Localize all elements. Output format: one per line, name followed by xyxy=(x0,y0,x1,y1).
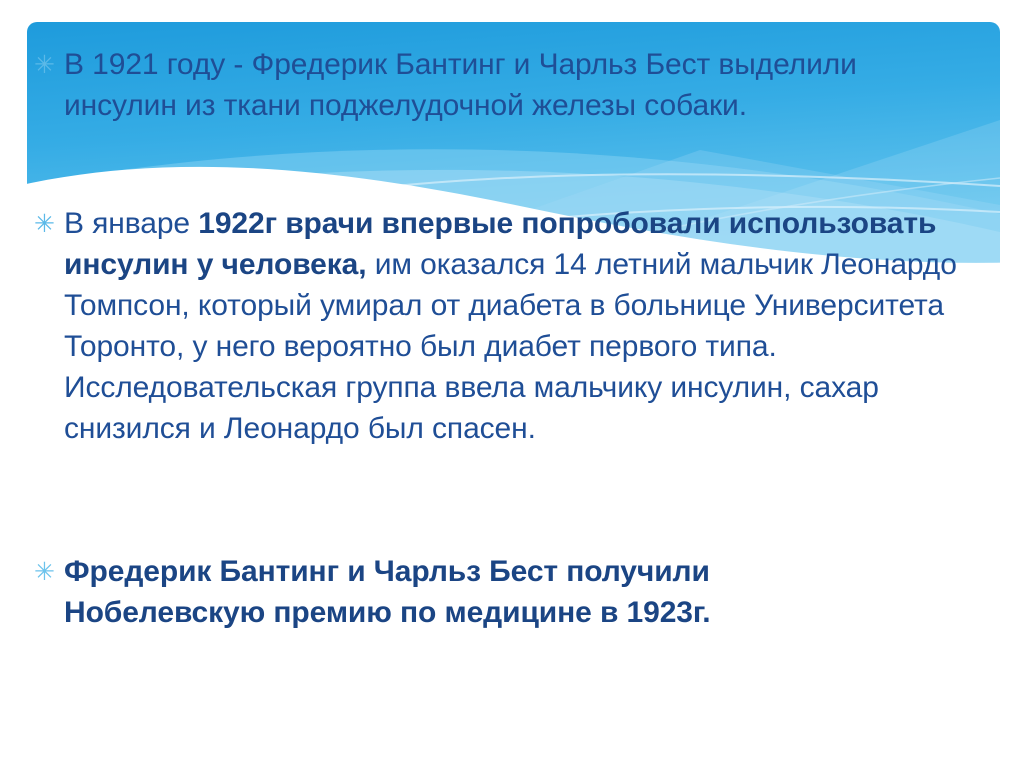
list-item: ✳ В 1921 году - Фредерик Бантинг и Чарль… xyxy=(34,44,994,126)
bullet-asterisk-icon: ✳ xyxy=(34,551,64,592)
list-item: ✳ Фредерик Бантинг и Чарльз Бест получил… xyxy=(34,551,994,633)
bullet-1-text: В 1921 году - Фредерик Бантинг и Чарльз … xyxy=(64,44,884,126)
bullet-2-run-regular-lead: В январе xyxy=(64,207,198,240)
bullet-2-text: В январе 1922г врачи впервые попробовали… xyxy=(64,203,964,449)
slide-body: ✳ В 1921 году - Фредерик Бантинг и Чарль… xyxy=(0,0,1024,767)
bullet-3-text: Фредерик Бантинг и Чарльз Бест получили … xyxy=(64,551,894,633)
presentation-slide: ✳ В 1921 году - Фредерик Бантинг и Чарль… xyxy=(0,0,1024,767)
bullet-3-run-bold: Фредерик Бантинг и Чарльз Бест получили … xyxy=(64,555,711,629)
list-item: ✳ В январе 1922г врачи впервые попробова… xyxy=(34,203,994,449)
bullet-asterisk-icon: ✳ xyxy=(34,44,64,85)
bullet-asterisk-icon: ✳ xyxy=(34,203,64,244)
